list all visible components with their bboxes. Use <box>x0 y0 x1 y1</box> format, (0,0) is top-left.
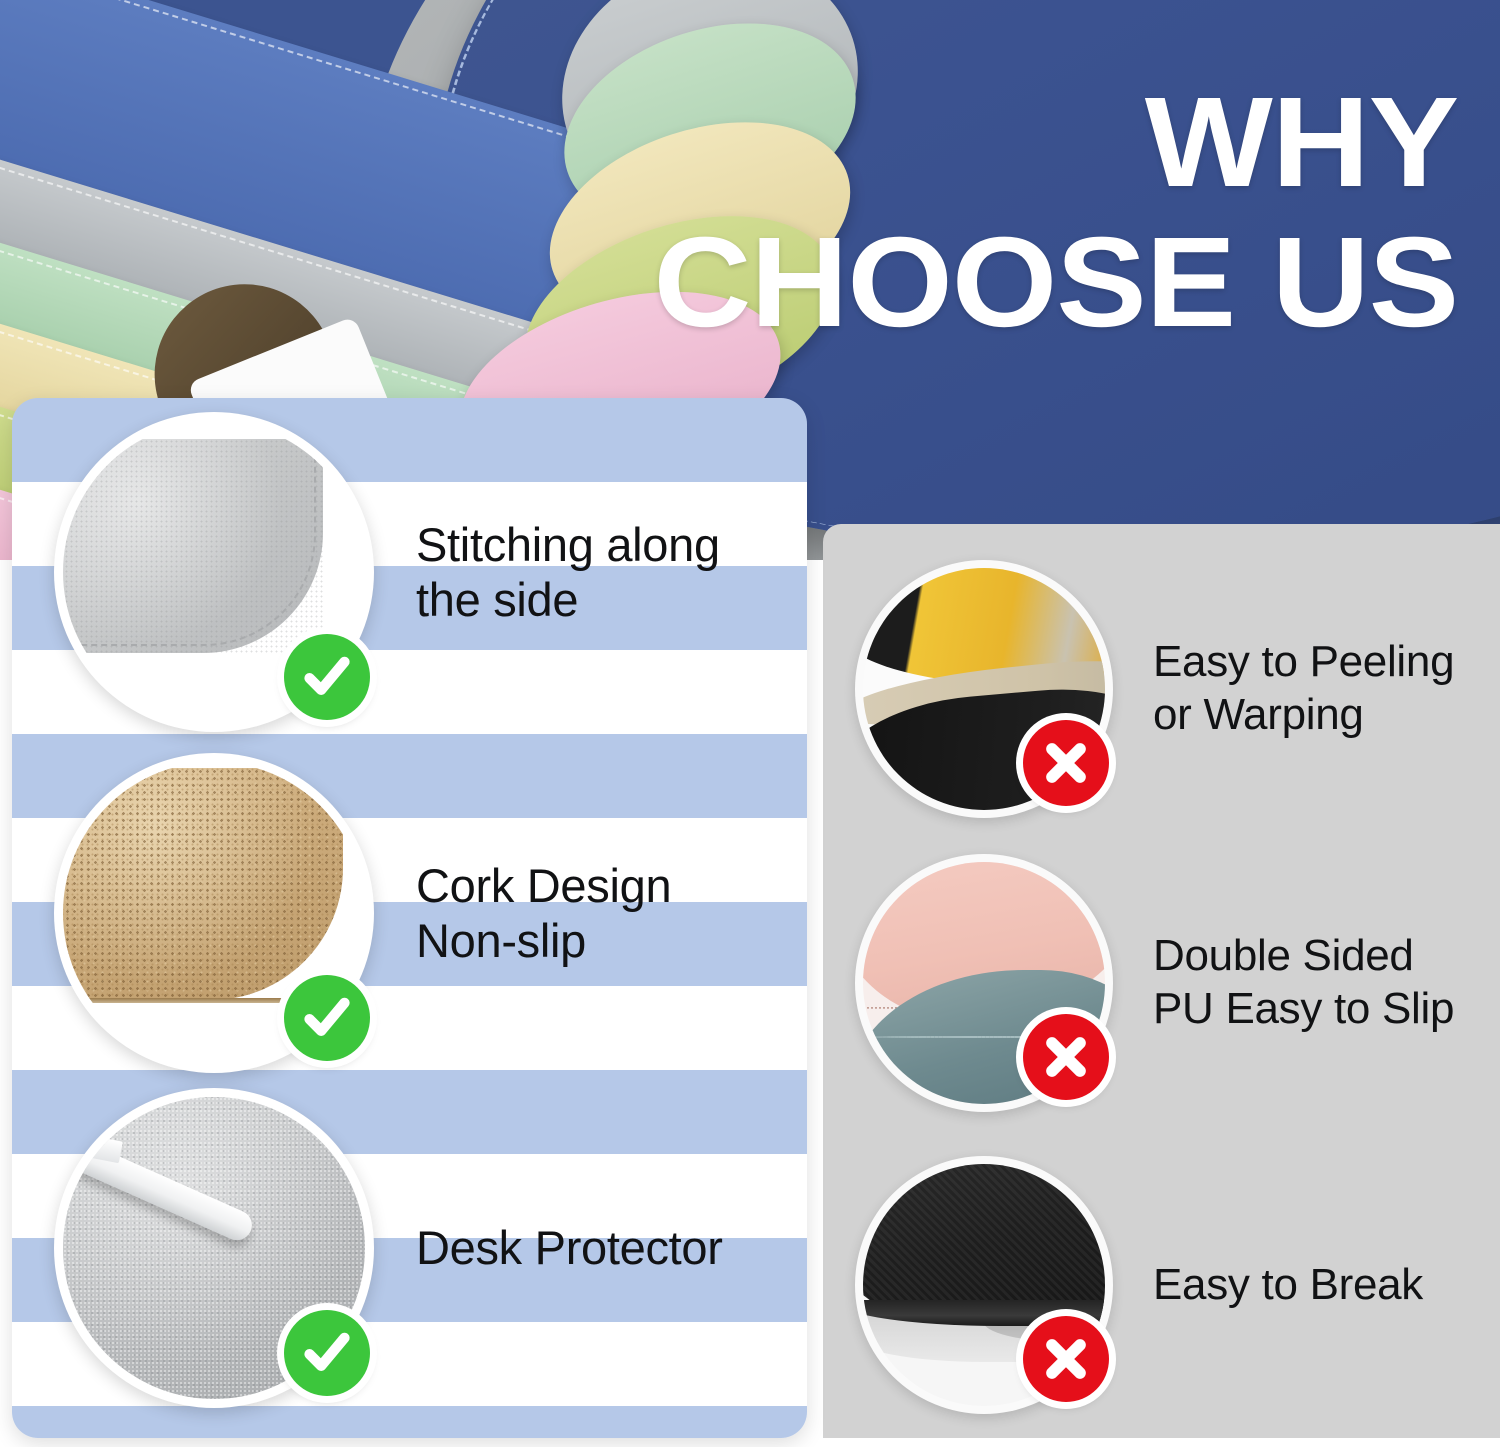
pro-item-cork: Cork Design Non-slip <box>12 753 807 1073</box>
pro-label-stitching: Stitching along the side <box>416 517 720 628</box>
con-label-peeling: Easy to Peeling or Warping <box>1153 636 1454 742</box>
infographic-canvas: WHY CHOOSE US Easy to Peeling or Warping <box>0 0 1500 1447</box>
con-image-double-sided <box>855 854 1113 1112</box>
con-item-break: Easy to Break <box>823 1156 1500 1414</box>
pro-item-desk-protector: Desk Protector <box>12 1088 807 1408</box>
check-icon <box>284 1310 370 1396</box>
con-item-peeling: Easy to Peeling or Warping <box>823 560 1500 818</box>
headline: WHY CHOOSE US <box>699 84 1458 342</box>
check-icon <box>284 975 370 1061</box>
cork-illustration <box>63 768 343 1000</box>
headline-line-1: WHY <box>653 84 1458 202</box>
pro-image-cork <box>54 753 374 1073</box>
headline-line-2: CHOOSE US <box>653 224 1458 342</box>
pros-panel: Stitching along the side Cork Design Non… <box>12 398 807 1438</box>
check-icon <box>284 634 370 720</box>
con-label-double-sided: Double Sided PU Easy to Slip <box>1153 930 1454 1036</box>
cross-icon <box>1023 1316 1109 1402</box>
pro-image-stitching <box>54 412 374 732</box>
con-image-break <box>855 1156 1113 1414</box>
con-image-peeling <box>855 560 1113 818</box>
pro-item-stitching: Stitching along the side <box>12 412 807 732</box>
pro-label-cork: Cork Design Non-slip <box>416 858 671 969</box>
cons-panel: Easy to Peeling or Warping Double Sided … <box>823 524 1500 1438</box>
pro-image-desk-protector <box>54 1088 374 1408</box>
pro-label-desk-protector: Desk Protector <box>416 1220 723 1275</box>
cross-icon <box>1023 720 1109 806</box>
con-label-break: Easy to Break <box>1153 1259 1423 1312</box>
cross-icon <box>1023 1014 1109 1100</box>
stitched-leather-illustration <box>63 439 323 653</box>
con-item-double-sided: Double Sided PU Easy to Slip <box>823 854 1500 1112</box>
